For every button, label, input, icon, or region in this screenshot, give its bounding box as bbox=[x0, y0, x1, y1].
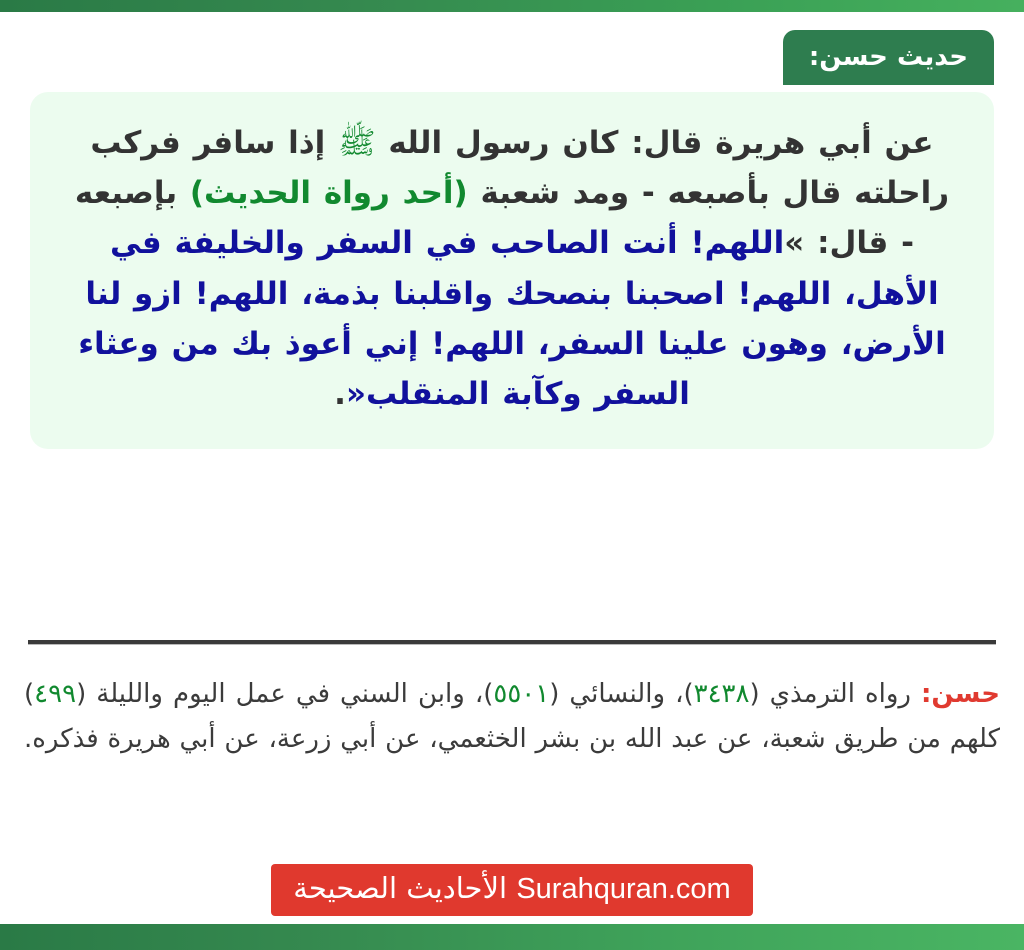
hadith-card: حديث حسن: عن أبي هريرة قال: كان رسول الل… bbox=[0, 0, 1024, 950]
sallallahu-alayhi-wasallam-glyph: ﷺ bbox=[338, 125, 375, 161]
hadith-segment-parenthetical: (أحد رواة الحديث) bbox=[190, 175, 468, 211]
card-content: حديث حسن: عن أبي هريرة قال: كان رسول الل… bbox=[0, 12, 1024, 924]
takhrij-text-2: )، والنسائي ( bbox=[549, 679, 693, 709]
takhrij-number-ibn-sunni: ٤٩٩ bbox=[34, 679, 76, 709]
hadith-grade-badge: حديث حسن: bbox=[783, 30, 994, 85]
takhrij-grade-label: حسن: bbox=[921, 679, 1000, 709]
takhrij-text-3: )، وابن السني في عمل اليوم والليلة ( bbox=[76, 679, 493, 709]
grade-badge-row: حديث حسن: bbox=[0, 30, 1024, 85]
hadith-segment-narrator: عن أبي هريرة قال: كان رسول الله bbox=[376, 125, 934, 161]
top-green-bar bbox=[0, 0, 1024, 12]
site-branding-badge[interactable]: Surahquran.com الأحاديث الصحيحة bbox=[271, 864, 752, 916]
section-divider bbox=[28, 640, 996, 645]
takhrij-number-nasai: ٥٥٠١ bbox=[493, 679, 549, 709]
site-arabic-label: الأحاديث الصحيحة bbox=[293, 871, 507, 905]
takhrij-attribution: حسن: رواه الترمذي (٣٤٣٨)، والنسائي (٥٥٠١… bbox=[24, 672, 1000, 761]
takhrij-text-1: رواه الترمذي ( bbox=[749, 679, 921, 709]
site-name-label: Surahquran.com bbox=[516, 873, 730, 905]
hadith-segment-period: . bbox=[334, 376, 346, 412]
hadith-text-box: عن أبي هريرة قال: كان رسول الله ﷺ إذا سا… bbox=[30, 92, 994, 449]
footer-row: Surahquran.com الأحاديث الصحيحة bbox=[0, 864, 1024, 916]
takhrij-number-tirmidhi: ٣٤٣٨ bbox=[694, 679, 750, 709]
hadith-body: عن أبي هريرة قال: كان رسول الله ﷺ إذا سا… bbox=[64, 118, 960, 419]
bottom-green-bar bbox=[0, 924, 1024, 950]
